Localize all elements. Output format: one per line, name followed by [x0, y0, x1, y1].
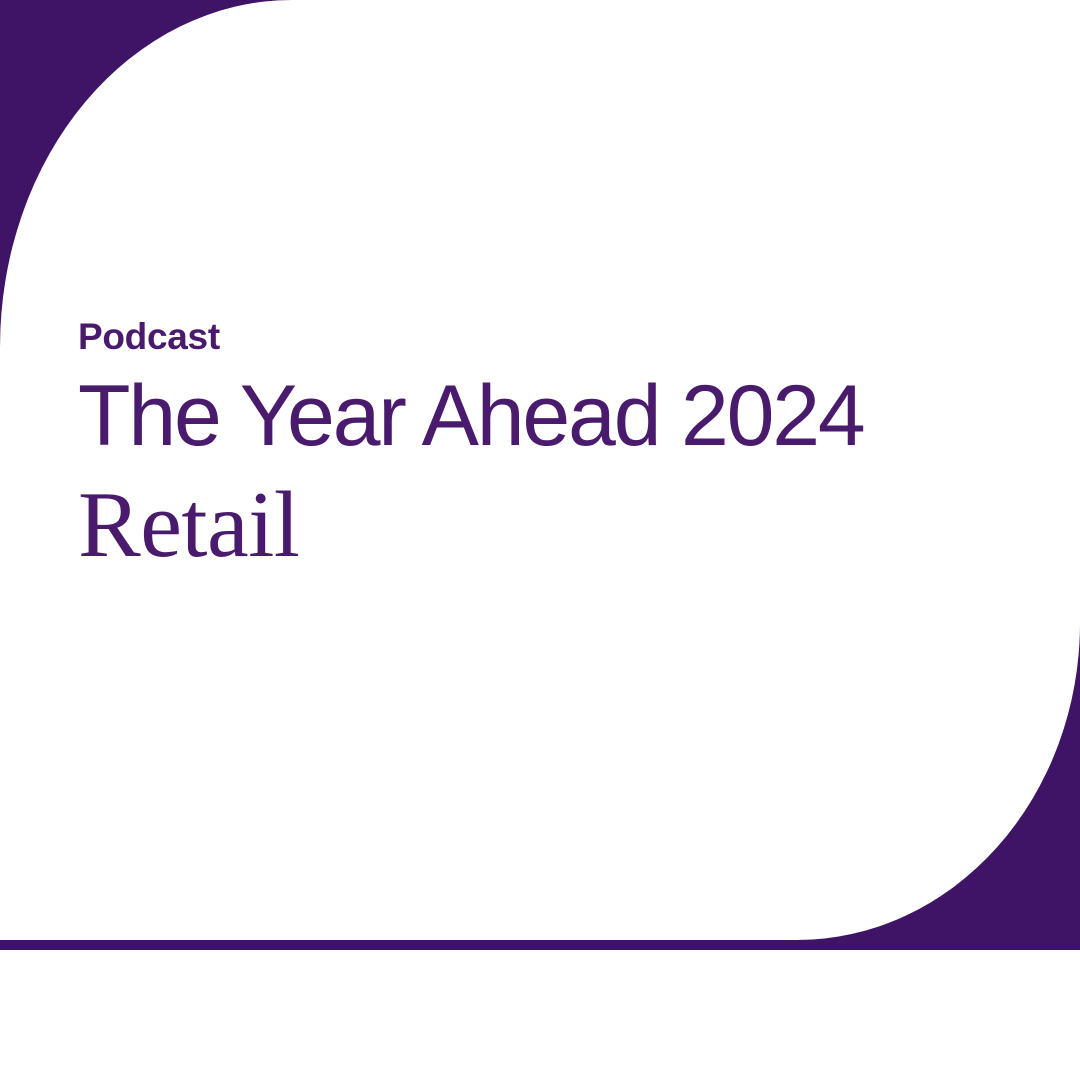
content-type-label: Podcast [78, 318, 1008, 355]
page-subtitle: Retail [78, 462, 1008, 576]
podcast-cover-canvas: Podcast The Year Ahead 2024 Retail [0, 0, 1080, 1080]
page-title: The Year Ahead 2024 [78, 355, 1008, 462]
cover-text-block: Podcast The Year Ahead 2024 Retail [78, 318, 1008, 576]
